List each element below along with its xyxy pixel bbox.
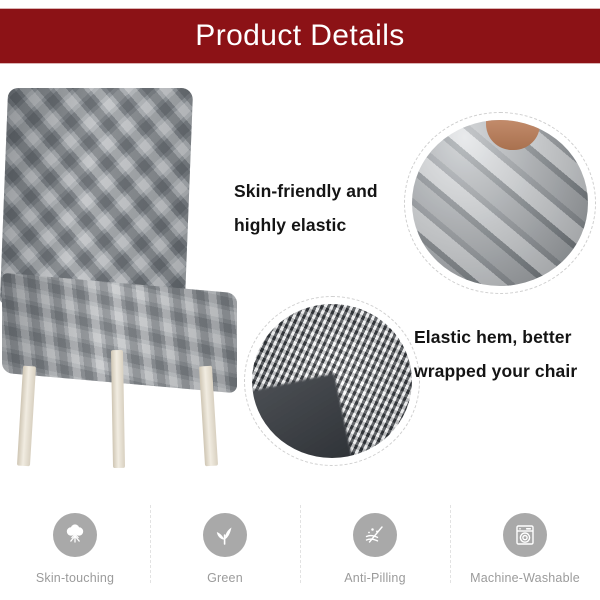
washing-machine-icon — [503, 513, 547, 557]
caption-skin-friendly: Skin-friendly and highly elastic — [234, 174, 409, 242]
fabric-weave-image — [412, 120, 588, 286]
feature-green: Green — [150, 505, 300, 585]
elastic-hem-closeup-photo — [244, 296, 420, 466]
anti-pilling-icon — [353, 513, 397, 557]
chair-leg-front-left — [17, 366, 36, 467]
chair-leg-back — [111, 350, 125, 468]
caption-elastic-hem-line1: Elastic hem, better — [414, 320, 599, 354]
caption-skin-friendly-line2: highly elastic — [234, 208, 409, 242]
sprout-leaf-icon — [203, 513, 247, 557]
caption-elastic-hem: Elastic hem, better wrapped your chair — [414, 320, 599, 388]
feature-machine-washable: Machine-Washable — [450, 505, 600, 585]
cotton-boll-icon — [53, 513, 97, 557]
caption-skin-friendly-line1: Skin-friendly and — [234, 174, 409, 208]
caption-elastic-hem-line2: wrapped your chair — [414, 354, 599, 388]
fabric-weave-closeup-photo — [404, 112, 596, 294]
feature-label-machine-washable: Machine-Washable — [470, 571, 580, 585]
hem-texture — [252, 304, 412, 458]
feature-label-green: Green — [207, 571, 243, 585]
header-banner: Product Details — [0, 9, 600, 63]
feature-anti-pilling: Anti-Pilling — [300, 505, 450, 585]
feature-row: Skin-touching Green — [0, 505, 600, 600]
page-title: Product Details — [195, 19, 404, 53]
feature-label-skin-touching: Skin-touching — [36, 571, 114, 585]
feature-skin-touching: Skin-touching — [0, 505, 150, 585]
chair-backrest — [0, 88, 193, 303]
chair-shading — [0, 88, 193, 303]
feature-label-anti-pilling: Anti-Pilling — [344, 571, 405, 585]
elastic-hem-image — [252, 304, 412, 458]
chair-cover-photo — [0, 78, 246, 428]
